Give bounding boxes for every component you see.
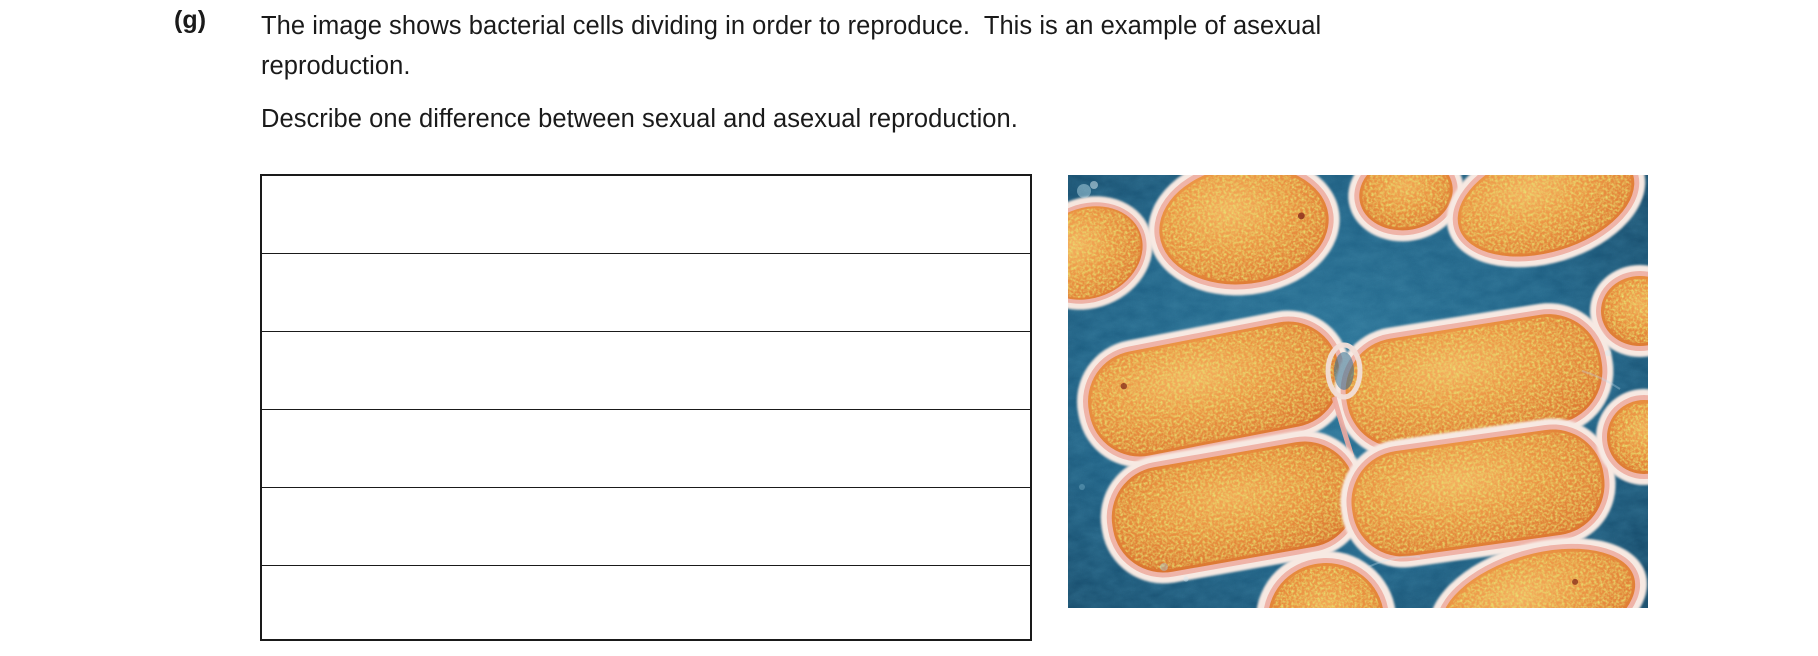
answer-line-1[interactable]: [262, 176, 1030, 254]
question-part-label: (g): [174, 8, 206, 33]
answer-line-2[interactable]: [262, 254, 1030, 332]
micrograph-grain: [1068, 175, 1648, 608]
question-stem: The image shows bacterial cells dividing…: [261, 6, 1681, 86]
bacterial-cells-micrograph: [1068, 175, 1648, 608]
answer-line-3[interactable]: [262, 332, 1030, 410]
answer-lines-box[interactable]: [260, 174, 1032, 641]
answer-line-5[interactable]: [262, 488, 1030, 566]
micrograph-svg: [1068, 175, 1648, 608]
question-prompt: Describe one difference between sexual a…: [261, 99, 1661, 139]
answer-line-4[interactable]: [262, 410, 1030, 488]
question-stem-line-1: The image shows bacterial cells dividing…: [261, 6, 1681, 46]
question-stem-line-2: reproduction.: [261, 46, 1681, 86]
answer-line-6[interactable]: [262, 566, 1030, 638]
